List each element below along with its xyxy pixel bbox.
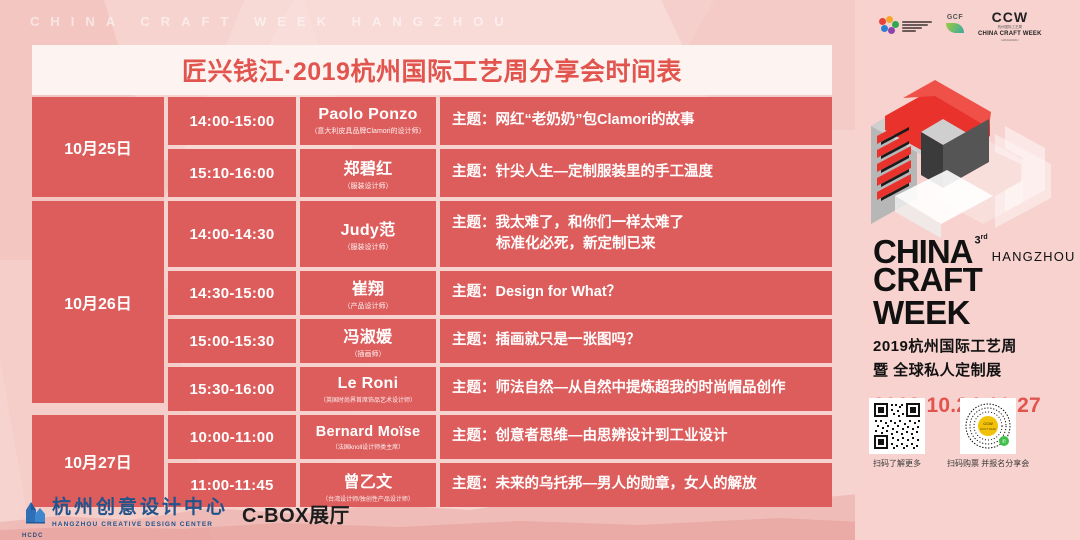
ccw-logo-mark: CCW	[992, 10, 1028, 24]
topic-cell: 主题：创意者思维—由思辨设计到工业设计	[440, 415, 832, 459]
hcdc-name-block: 杭州创意设计中心 HANGZHOU CREATIVE DESIGN CENTER	[52, 498, 228, 528]
speaker-cell: Le Roni （英国时尚界首席饰品艺术设计师）	[300, 367, 436, 411]
topic-cell: 主题：插画就只是一张图吗？	[440, 319, 832, 363]
schedule-day-block: 10月25日 14:00-15:00 Paolo Ponzo （意大利皮具品牌C…	[32, 97, 832, 197]
speaker-cell: Bernard Moïse （法国knoll设计师类主席）	[300, 415, 436, 459]
ccw-logo-cn: 杭州国际工艺周	[998, 25, 1023, 30]
speaker-name: 崔翔	[352, 275, 385, 299]
gcf-logo-subtext	[955, 35, 956, 39]
topic-line-1: 主题：针尖人生—定制服装里的手工温度	[452, 162, 713, 183]
event-headline: CHINA 3rd HANGZHOU CRAFT WEEK 2019杭州国际工艺…	[873, 236, 1073, 418]
speaker-name: Bernard Moïse	[316, 424, 421, 440]
topic-line-1: 主题：我太难了，和你们一样太难了	[452, 215, 684, 231]
hcf-logo-icon	[879, 16, 932, 36]
ccw-logo-city: HANGZHOU	[1001, 38, 1018, 42]
ccw-logo-icon: CCW 杭州国际工艺周 CHINA CRAFT WEEK HANGZHOU	[978, 10, 1042, 42]
gcf-swoosh-icon	[946, 23, 964, 33]
speaker-role: （法国knoll设计师类主席）	[332, 442, 404, 451]
headline-craft-week: CRAFT WEEK	[873, 263, 1073, 329]
speaker-role: （意大利皮具品牌Clamori的设计师）	[310, 126, 425, 136]
topic-line-2: 标准化必死，新定制已来	[452, 234, 684, 255]
speaker-cell: 崔翔 （产品设计师）	[300, 271, 436, 315]
speaker-name: 曾乙文	[344, 468, 393, 492]
headline-city: HANGZHOU	[992, 249, 1076, 264]
topic-line-1: 主题：师法自然—从自然中提炼超我的时尚帽品创作	[452, 378, 786, 399]
headline-china: CHINA	[873, 236, 973, 267]
speaker-role: （英国时尚界首席饰品艺术设计师）	[320, 395, 416, 404]
svg-text:✆: ✆	[1002, 439, 1006, 445]
time-cell: 15:00-15:30	[168, 319, 296, 363]
hcdc-abbr: HCDC	[22, 533, 48, 539]
schedule-title-bar: 匠兴钱江·2019杭州国际工艺周分享会时间表	[32, 45, 832, 95]
speaker-role: （服装设计师）	[344, 242, 393, 252]
qr-item-ticket[interactable]: CCW CRAFT WEEK ✆ 扫码购票 并报名分享会	[947, 398, 1029, 470]
time-cell: 15:30-16:00	[168, 367, 296, 411]
table-row[interactable]: 15:10-16:00 郑碧红 （服装设计师） 主题：针尖人生—定制服装里的手工…	[168, 149, 832, 197]
venue-label: C-BOX展厅	[242, 499, 350, 528]
topic-line-1: 主题：网红“老奶奶”包Clamori的故事	[452, 110, 695, 131]
hcf-logo-text-lines	[902, 21, 932, 32]
topic-cell: 主题：师法自然—从自然中提炼超我的时尚帽品创作	[440, 367, 832, 411]
qr-caption-ticket: 扫码购票 并报名分享会	[947, 459, 1029, 470]
speaker-cell: 冯淑媛 （插画师）	[300, 319, 436, 363]
speaker-name: Paolo Ponzo	[318, 106, 417, 124]
org-name-cn: 杭州创意设计中心	[52, 498, 228, 519]
watermark-text: CHINA CRAFT WEEK HANGZHOU	[30, 14, 515, 29]
time-cell: 15:10-16:00	[168, 149, 296, 197]
schedule-table: 10月25日 14:00-15:00 Paolo Ponzo （意大利皮具品牌C…	[32, 97, 832, 511]
headline-ordinal: 3rd	[975, 234, 988, 247]
date-cell: 10月25日	[32, 97, 164, 197]
brand-panel: GCF CCW 杭州国际工艺周 CHINA CRAFT WEEK HANGZHO…	[855, 0, 1080, 540]
svg-text:CRAFT WEEK: CRAFT WEEK	[980, 428, 997, 431]
topic-cell: 主题：针尖人生—定制服装里的手工温度	[440, 149, 832, 197]
isometric-c-logo	[855, 78, 1080, 238]
ccw-logo-en: CHINA CRAFT WEEK	[978, 31, 1042, 37]
date-cell: 10月26日	[32, 201, 164, 403]
poster-root: CHINA CRAFT WEEK HANGZHOU 匠兴钱江·2019杭州国际工…	[0, 0, 1080, 540]
topic-cell: 主题：Design for What？	[440, 271, 832, 315]
page-title: 匠兴钱江·2019杭州国际工艺周分享会时间表	[182, 52, 682, 88]
topic-cell: 主题：未来的乌托邦—男人的勋章，女人的解放	[440, 463, 832, 507]
table-row[interactable]: 14:00-15:00 Paolo Ponzo （意大利皮具品牌Clamori的…	[168, 97, 832, 145]
qr-code-image-ticket[interactable]: CCW CRAFT WEEK ✆	[960, 398, 1016, 454]
schedule-day-block: 10月27日 10:00-11:00 Bernard Moïse （法国knol…	[32, 415, 832, 507]
topic-cell: 主题：网红“老奶奶”包Clamori的故事	[440, 97, 832, 145]
qr-caption-info: 扫码了解更多	[873, 459, 921, 470]
headline-cn-line-1: 2019杭州国际工艺周	[873, 335, 1073, 356]
topic-line-1: 主题：未来的乌托邦—男人的勋章，女人的解放	[452, 474, 757, 495]
qr-code-section: 扫码了解更多 CCW CRAFT WEEK	[869, 398, 1029, 470]
table-row[interactable]: 15:00-15:30 冯淑媛 （插画师） 主题：插画就只是一张图吗？	[168, 319, 832, 363]
time-cell: 14:30-15:00	[168, 271, 296, 315]
hcdc-logo-block: HCDC 杭州创意设计中心 HANGZHOU CREATIVE DESIGN C…	[22, 498, 228, 528]
date-cell: 10月27日	[32, 415, 164, 507]
speaker-role: （产品设计师）	[344, 301, 393, 311]
qr-code-image-info[interactable]	[869, 398, 925, 454]
svg-text:CCW: CCW	[983, 421, 993, 426]
time-cell: 10:00-11:00	[168, 415, 296, 459]
table-row[interactable]: 15:30-16:00 Le Roni （英国时尚界首席饰品艺术设计师） 主题：…	[168, 367, 832, 411]
speaker-role: （插画师）	[351, 349, 386, 359]
partner-logos: GCF CCW 杭州国际工艺周 CHINA CRAFT WEEK HANGZHO…	[879, 10, 1042, 42]
time-cell: 14:00-14:30	[168, 201, 296, 267]
table-row[interactable]: 10:00-11:00 Bernard Moïse （法国knoll设计师类主席…	[168, 415, 832, 459]
speaker-name: Judy范	[341, 216, 396, 240]
qr-item-info[interactable]: 扫码了解更多	[869, 398, 925, 470]
headline-cn-line-2: 暨 全球私人定制展	[873, 359, 1073, 380]
topic-line-1: 主题：创意者思维—由思辨设计到工业设计	[452, 426, 728, 447]
footer: HCDC 杭州创意设计中心 HANGZHOU CREATIVE DESIGN C…	[22, 498, 350, 528]
table-row[interactable]: 14:00-14:30 Judy范 （服装设计师） 主题：我太难了，和你们一样太…	[168, 201, 832, 267]
table-row[interactable]: 14:30-15:00 崔翔 （产品设计师） 主题：Design for Wha…	[168, 271, 832, 315]
speaker-cell: 郑碧红 （服装设计师）	[300, 149, 436, 197]
org-name-en: HANGZHOU CREATIVE DESIGN CENTER	[52, 521, 228, 528]
topic-line-1: 主题：Design for What？	[452, 282, 621, 303]
schedule-day-block: 10月26日 14:00-14:30 Judy范 （服装设计师） 主题：我太难了…	[32, 201, 832, 411]
speaker-cell: Judy范 （服装设计师）	[300, 201, 436, 267]
hcdc-building-icon: HCDC	[22, 498, 48, 528]
gcf-logo-text: GCF	[947, 14, 963, 21]
time-cell: 14:00-15:00	[168, 97, 296, 145]
speaker-cell: Paolo Ponzo （意大利皮具品牌Clamori的设计师）	[300, 97, 436, 145]
speaker-name: 冯淑媛	[344, 323, 393, 347]
gcf-logo-icon: GCF	[946, 14, 964, 39]
speaker-name: 郑碧红	[344, 155, 393, 179]
colored-dots-icon	[879, 16, 899, 36]
topic-cell: 主题：我太难了，和你们一样太难了 标准化必死，新定制已来	[440, 201, 832, 267]
topic-line-1: 主题：插画就只是一张图吗？	[452, 330, 641, 351]
speaker-role: （服装设计师）	[344, 181, 393, 191]
speaker-name: Le Roni	[338, 375, 399, 393]
